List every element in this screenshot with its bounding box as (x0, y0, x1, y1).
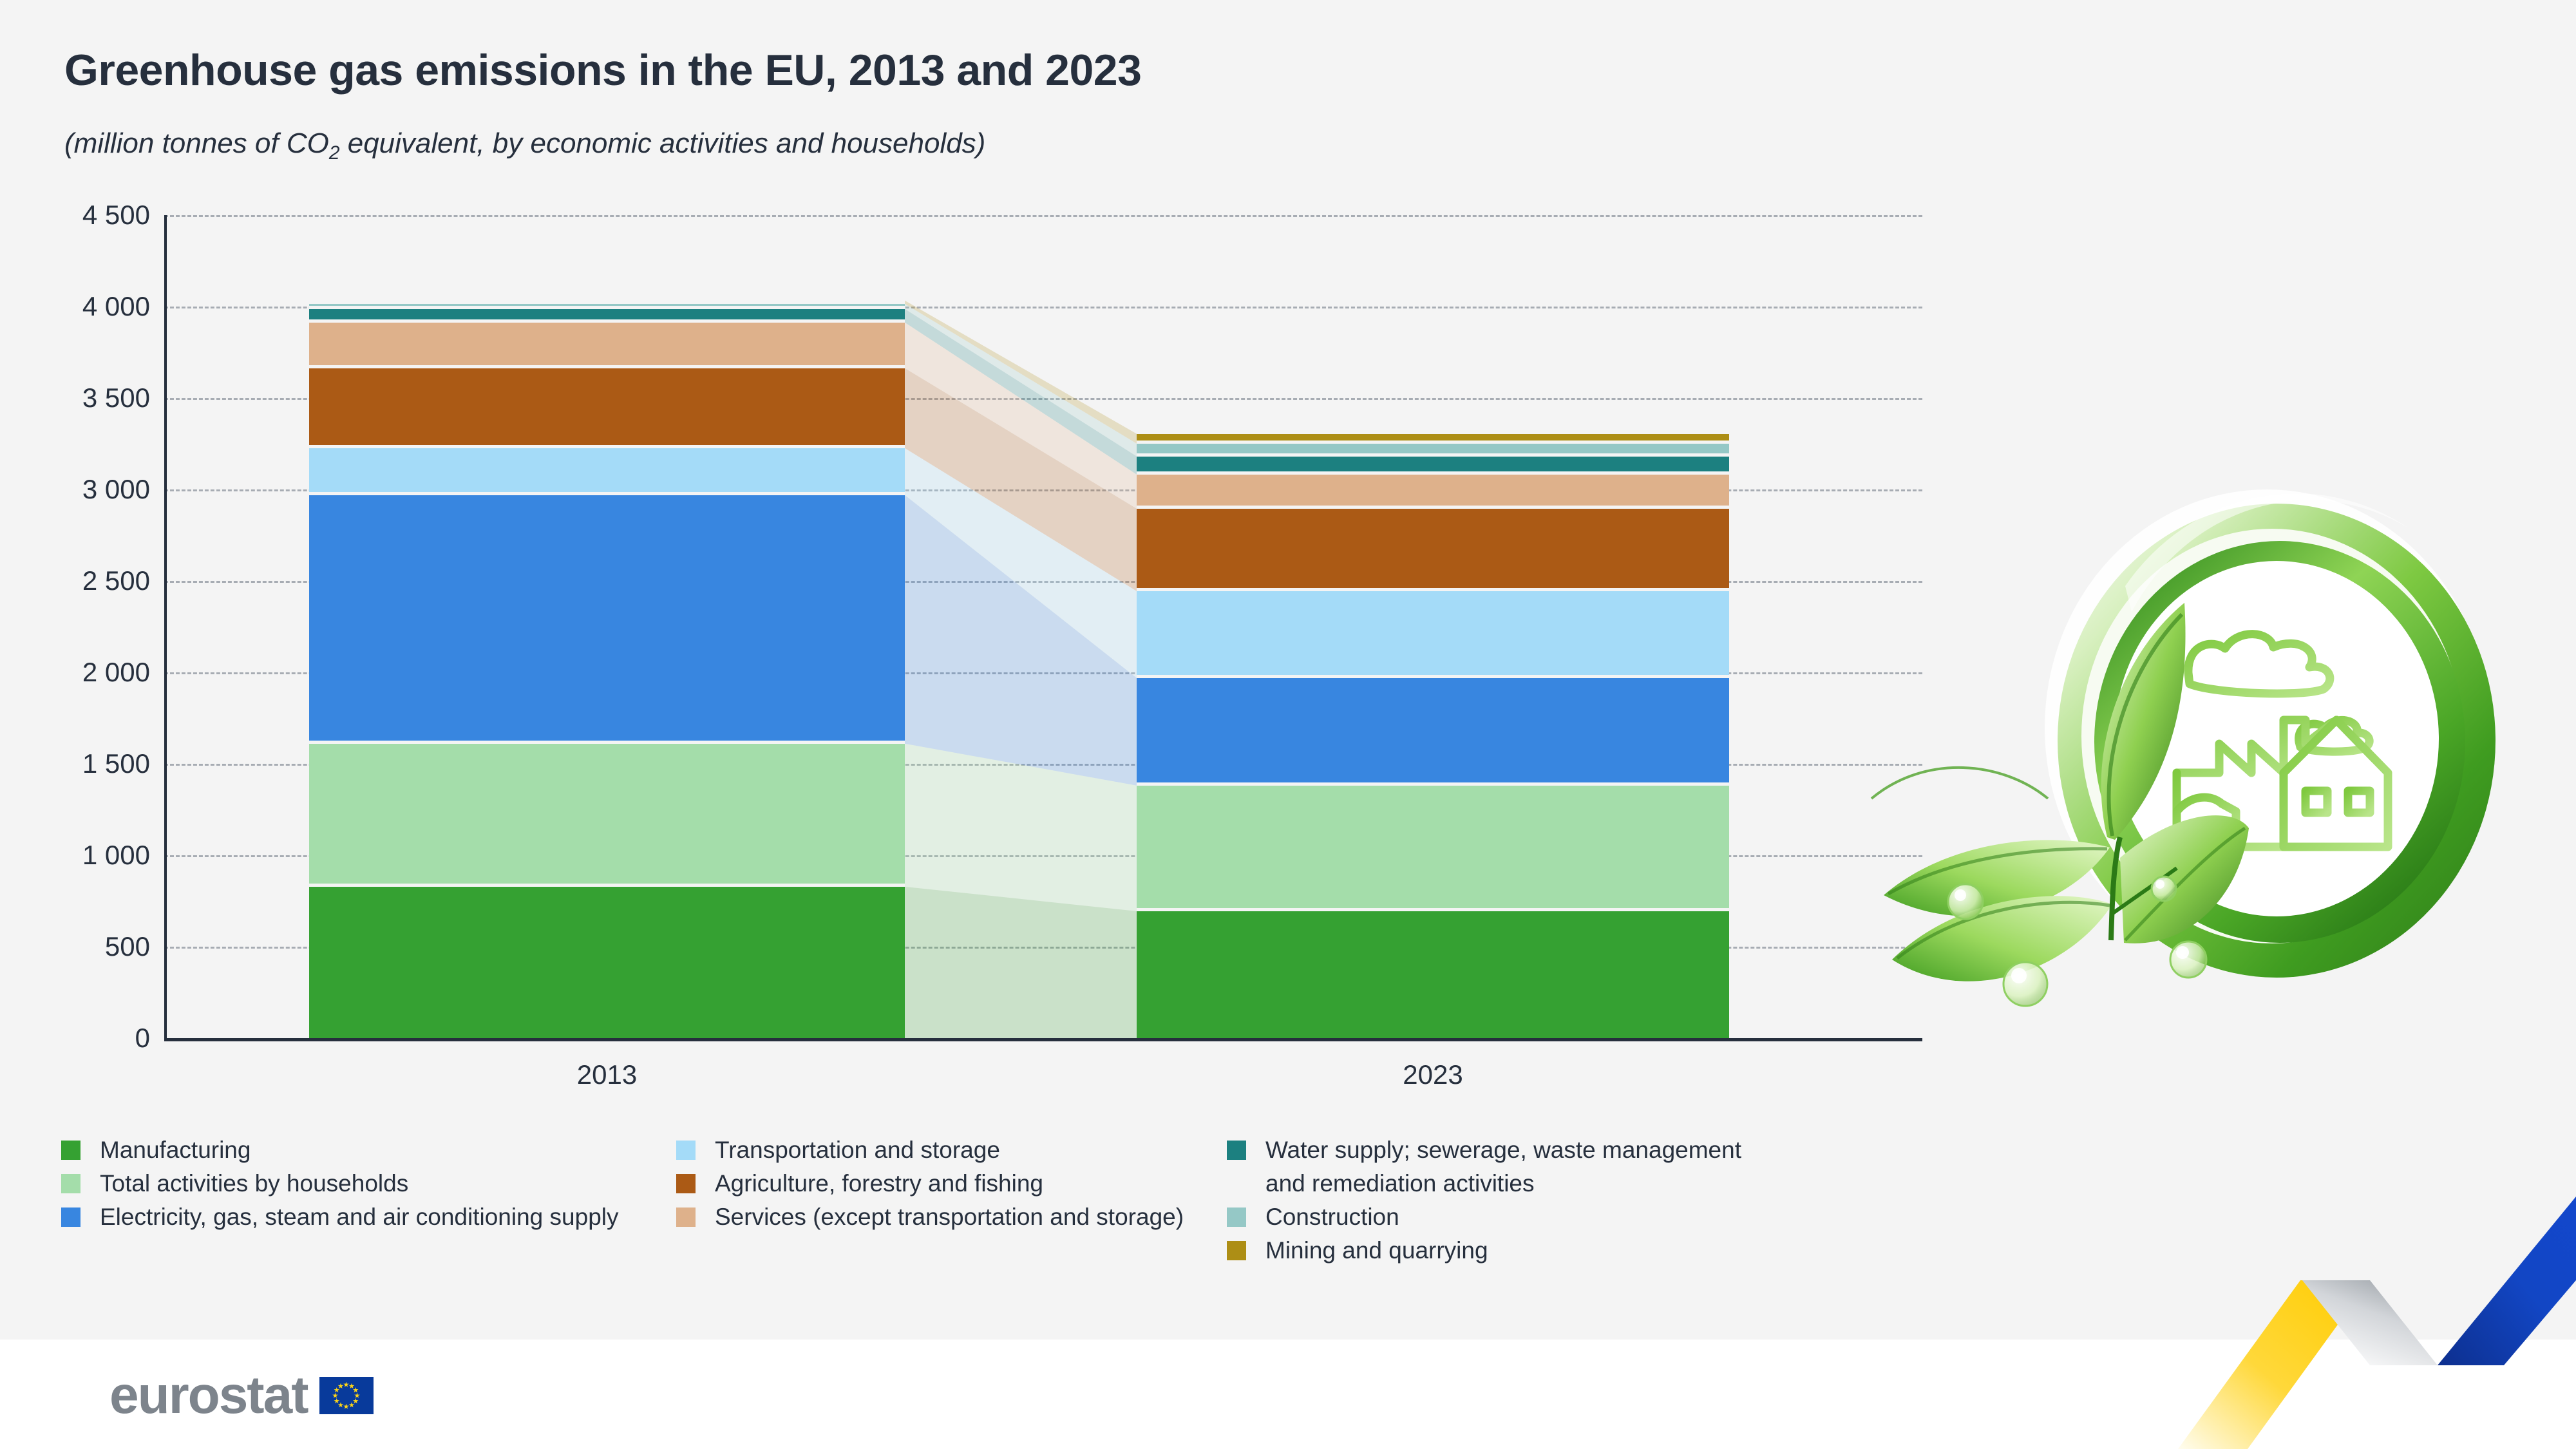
bar-segment[interactable] (1137, 475, 1729, 509)
legend-label: Transportation and storage (715, 1137, 1000, 1163)
legend-label: Agriculture, forestry and fishing (715, 1170, 1043, 1197)
legend-label: Electricity, gas, steam and air conditio… (100, 1204, 619, 1230)
legend: ManufacturingTotal activities by househo… (61, 1133, 1864, 1282)
flow-ribbon (905, 448, 1137, 678)
subtitle-subscript: 2 (329, 142, 340, 164)
y-axis-tick-label: 1 500 (0, 748, 150, 779)
bar-segment[interactable] (309, 887, 905, 1038)
legend-swatch (1227, 1241, 1246, 1260)
flow-ribbon (905, 301, 1137, 444)
bar-segment[interactable] (309, 495, 905, 744)
stacked-bar-2023[interactable] (1137, 434, 1729, 1038)
legend-item[interactable]: Agriculture, forestry and fishing (676, 1167, 1184, 1200)
legend-label: Manufacturing (100, 1137, 251, 1163)
bar-segment[interactable] (1137, 457, 1729, 475)
bar-segment[interactable] (309, 309, 905, 323)
eu-star-icon (343, 1404, 349, 1410)
legend-column: Water supply; sewerage, waste management… (1227, 1133, 1741, 1267)
x-axis-line (164, 1038, 1922, 1041)
legend-swatch (676, 1141, 696, 1160)
y-axis-tick-label: 500 (0, 931, 150, 962)
legend-item[interactable]: Transportation and storage (676, 1133, 1184, 1167)
bar-segment[interactable] (1137, 678, 1729, 786)
chart-page: Greenhouse gas emissions in the EU, 2013… (0, 0, 2576, 1449)
y-axis-tick-label: 3 000 (0, 474, 150, 505)
bar-segment[interactable] (1137, 509, 1729, 591)
y-axis-tick-label: 4 500 (0, 200, 150, 231)
y-axis-tick-label: 2 500 (0, 565, 150, 596)
legend-swatch (676, 1207, 696, 1227)
bar-segment[interactable] (309, 304, 905, 309)
flow-ribbon (905, 304, 1137, 457)
eu-flag-icon (319, 1377, 374, 1414)
y-axis-tick-label: 4 000 (0, 291, 150, 322)
legend-column: ManufacturingTotal activities by househo… (61, 1133, 619, 1234)
flow-ribbon (905, 744, 1137, 911)
green-factory-leaf-emblem-icon (1855, 451, 2537, 1030)
bar-segment[interactable] (309, 368, 905, 448)
legend-swatch (676, 1174, 696, 1193)
eu-star-icon (353, 1387, 359, 1393)
eu-star-icon (343, 1382, 349, 1388)
flow-ribbon (905, 323, 1137, 509)
legend-label: Services (except transportation and stor… (715, 1204, 1184, 1230)
bar-segment[interactable] (309, 744, 905, 887)
eurostat-wordmark: eurostat (109, 1369, 308, 1422)
y-axis-tick-label: 2 000 (0, 657, 150, 688)
bar-segment[interactable] (309, 323, 905, 368)
legend-item[interactable]: Total activities by households (61, 1167, 619, 1200)
eu-star-icon (349, 1383, 355, 1389)
eu-star-icon (354, 1393, 360, 1399)
eurostat-zigzag-ribbon-icon (2164, 1166, 2576, 1449)
x-axis-tick-label: 2023 (1403, 1059, 1463, 1090)
y-axis-line (164, 215, 167, 1041)
legend-item[interactable]: Water supply; sewerage, waste management… (1227, 1133, 1741, 1200)
legend-item[interactable]: Mining and quarrying (1227, 1234, 1741, 1267)
eu-star-icon (338, 1383, 344, 1389)
y-axis-tick-label: 3 500 (0, 383, 150, 413)
eu-star-icon (353, 1398, 359, 1404)
legend-swatch (61, 1141, 80, 1160)
page-title: Greenhouse gas emissions in the EU, 2013… (64, 45, 1141, 95)
subtitle-pre: (million tonnes of CO (64, 128, 329, 159)
flow-ribbon (905, 309, 1137, 475)
bar-segment[interactable] (1137, 434, 1729, 444)
bar-segment[interactable] (1137, 591, 1729, 678)
subtitle-post: equivalent, by economic activities and h… (340, 128, 986, 159)
y-axis-tick-label: 0 (0, 1023, 150, 1054)
eu-star-icon (334, 1387, 339, 1393)
page-subtitle: (million tonnes of CO2 equivalent, by ec… (64, 128, 985, 164)
gridline (164, 215, 1922, 217)
eu-star-icon (349, 1402, 355, 1408)
flow-ribbon (905, 887, 1137, 1038)
legend-item[interactable]: Manufacturing (61, 1133, 619, 1167)
legend-label: Water supply; sewerage, waste management… (1265, 1137, 1741, 1197)
legend-label: Mining and quarrying (1265, 1237, 1488, 1264)
legend-item[interactable]: Services (except transportation and stor… (676, 1200, 1184, 1234)
stacked-bar-2013[interactable] (309, 301, 905, 1038)
eu-star-icon (332, 1393, 338, 1399)
legend-column: Transportation and storageAgriculture, f… (676, 1133, 1184, 1234)
flow-ribbon (905, 368, 1137, 591)
bar-segment[interactable] (309, 301, 905, 304)
bar-segment[interactable] (1137, 786, 1729, 911)
bar-segment[interactable] (1137, 911, 1729, 1038)
legend-item[interactable]: Construction (1227, 1200, 1741, 1234)
eu-star-icon (334, 1398, 339, 1404)
legend-item[interactable]: Electricity, gas, steam and air conditio… (61, 1200, 619, 1234)
legend-swatch (61, 1207, 80, 1227)
eurostat-logo: eurostat (109, 1369, 374, 1422)
legend-swatch (1227, 1207, 1246, 1227)
legend-swatch (1227, 1141, 1246, 1160)
legend-label: Construction (1265, 1204, 1399, 1230)
eu-star-icon (338, 1402, 344, 1408)
bar-segment[interactable] (309, 448, 905, 495)
legend-label: Total activities by households (100, 1170, 408, 1197)
bar-segment[interactable] (1137, 444, 1729, 457)
flow-ribbon (905, 495, 1137, 786)
y-axis-tick-label: 1 000 (0, 840, 150, 871)
x-axis-tick-label: 2013 (577, 1059, 637, 1090)
legend-swatch (61, 1174, 80, 1193)
